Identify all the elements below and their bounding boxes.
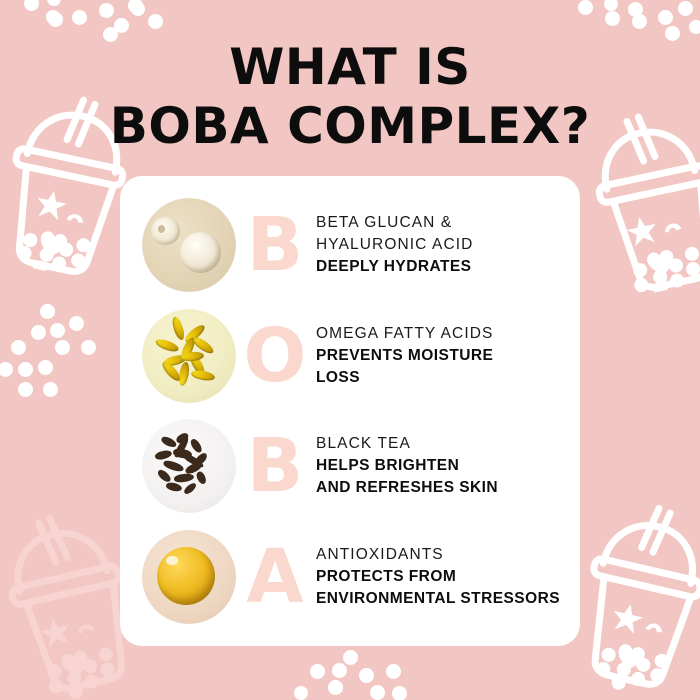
ingredient-name-line1: BLACK TEA: [316, 433, 580, 455]
pearl: [294, 686, 308, 700]
ingredient-row-antioxidants: A ANTIOXIDANTS PROTECTS FROM ENVIRONMENT…: [120, 522, 580, 632]
pearl: [47, 0, 61, 6]
ingredient-benefit-line1: HELPS BRIGHTEN: [316, 455, 580, 477]
ingredient-text-block: ANTIOXIDANTS PROTECTS FROM ENVIRONMENTAL…: [314, 544, 580, 610]
pearl: [31, 325, 46, 340]
boba-cup-bottom-right: [561, 488, 700, 700]
ingredient-text-block: BLACK TEA HELPS BRIGHTEN AND REFRESHES S…: [314, 433, 580, 499]
pearl: [605, 11, 620, 26]
pearl: [50, 323, 65, 338]
ingredient-row-omega: O OMEGA FATTY ACIDS PREVENTS MOISTURE LO…: [120, 301, 580, 411]
beige-gel-swatch: [142, 198, 236, 292]
pearl: [678, 1, 693, 16]
watermark-letter-b2: B: [236, 429, 314, 503]
pearl: [99, 3, 114, 18]
pearl: [128, 0, 143, 13]
ingredient-row-black-tea: B BLACK TEA HELPS BRIGHTEN AND REFRESHES…: [120, 411, 580, 521]
pearl: [628, 2, 643, 17]
ingredient-benefit-line1: DEEPLY HYDRATES: [316, 256, 580, 278]
ingredient-name-line1: BETA GLUCAN &: [316, 212, 580, 234]
watermark-letter-a: A: [236, 540, 314, 614]
pearl: [665, 26, 680, 41]
pearl: [392, 686, 407, 700]
page-title: WHAT IS BOBA COMPLEX?: [0, 42, 700, 151]
pearl: [332, 663, 347, 678]
ingredient-benefit-line2: ENVIRONMENTAL STRESSORS: [316, 588, 580, 610]
pearl: [48, 12, 63, 27]
pearl: [24, 0, 39, 11]
ingredient-text-block: BETA GLUCAN & HYALURONIC ACID DEEPLY HYD…: [314, 212, 580, 278]
pearl: [55, 340, 70, 355]
ingredient-text-block: OMEGA FATTY ACIDS PREVENTS MOISTURE LOSS: [314, 323, 580, 389]
pearl: [0, 362, 13, 377]
pearl: [689, 20, 700, 34]
ingredient-name-line2: HYALURONIC ACID: [316, 234, 580, 256]
ingredient-benefit-line1: PREVENTS MOISTURE: [316, 345, 580, 367]
pearl: [578, 0, 593, 15]
antioxidant-droplet: [157, 547, 215, 605]
poster-canvas: WHAT IS BOBA COMPLEX? B BETA GLUCAN & HY…: [0, 0, 700, 700]
pearl: [18, 382, 33, 397]
ingredient-name-line1: ANTIOXIDANTS: [316, 544, 580, 566]
pearl: [18, 362, 33, 377]
pearl: [148, 14, 163, 29]
gel-droplet-small: [151, 217, 179, 245]
pearl: [81, 340, 96, 355]
ingredient-benefit-line2: AND REFRESHES SKIN: [316, 477, 580, 499]
pearl: [11, 340, 26, 355]
pearl: [69, 316, 84, 331]
pearl: [38, 360, 53, 375]
pearl: [386, 664, 401, 679]
black-tea-leaves-swatch: [142, 419, 236, 513]
pearl: [72, 10, 87, 25]
pearl: [359, 668, 374, 683]
pearl: [46, 10, 60, 24]
antioxidant-drop-swatch: [142, 530, 236, 624]
pearl: [43, 382, 58, 397]
pearl: [343, 650, 358, 665]
pearl: [604, 0, 618, 11]
pearl: [103, 27, 118, 42]
pearl: [658, 10, 673, 25]
watermark-letter-b1: B: [236, 208, 314, 282]
pearl: [131, 2, 145, 16]
pearl: [370, 685, 385, 700]
ingredient-row-beta-glucan: B BETA GLUCAN & HYALURONIC ACID DEEPLY H…: [120, 190, 580, 300]
droplet-highlight: [166, 556, 177, 564]
ingredient-name-line1: OMEGA FATTY ACIDS: [316, 323, 580, 345]
pearl: [40, 304, 55, 319]
omega-capsules-swatch: [142, 309, 236, 403]
watermark-letter-o: O: [236, 319, 314, 393]
title-line-1: WHAT IS: [0, 42, 700, 92]
ingredient-benefit-line2: LOSS: [316, 367, 580, 389]
ingredient-benefit-line1: PROTECTS FROM: [316, 566, 580, 588]
pearl: [310, 664, 325, 679]
pearl: [114, 18, 129, 33]
gel-droplet-large: [180, 232, 221, 273]
ingredients-card: B BETA GLUCAN & HYALURONIC ACID DEEPLY H…: [120, 176, 580, 646]
pearl: [328, 680, 343, 695]
pearl: [632, 14, 647, 29]
title-line-2: BOBA COMPLEX?: [0, 101, 700, 151]
